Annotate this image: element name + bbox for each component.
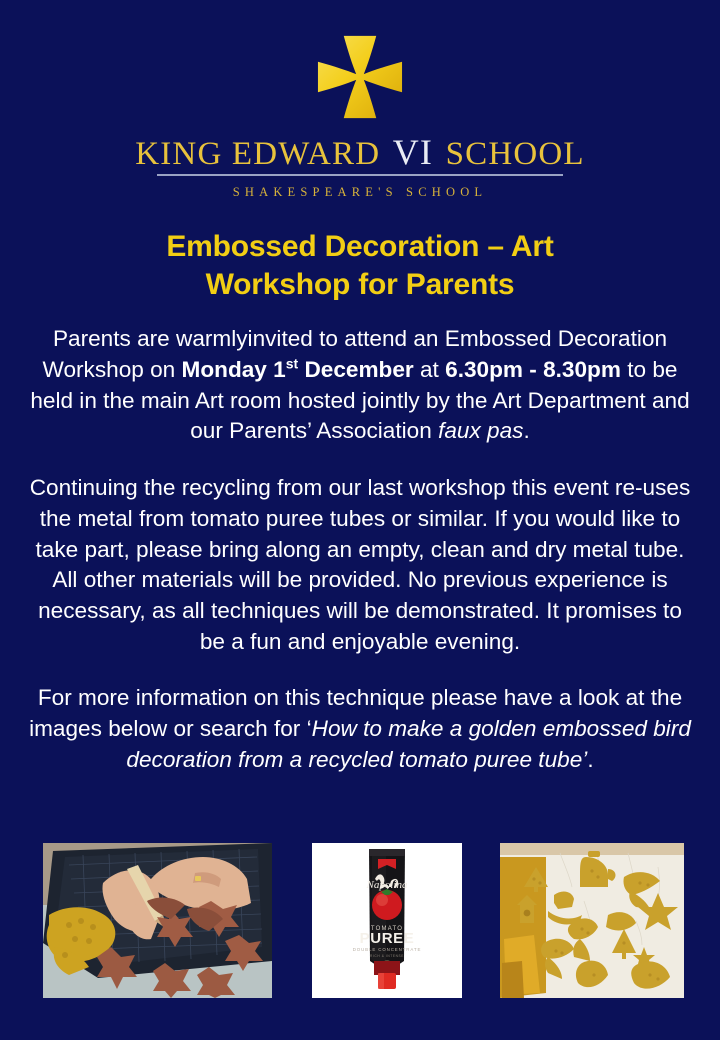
page-title-line-2: Workshop for Parents bbox=[80, 266, 640, 304]
photo-hands-embossing-metal bbox=[43, 843, 272, 998]
photo-tomato-puree-tube-graphic: Napolina TOMATO PUREE DOUBLE CONCENTRATE… bbox=[312, 843, 462, 998]
photo-tomato-puree-tube: Napolina TOMATO PUREE DOUBLE CONCENTRATE… bbox=[312, 843, 462, 998]
page-title-line-1: Embossed Decoration – Art bbox=[80, 228, 640, 266]
p1-italic-association-name: faux pas bbox=[438, 418, 523, 443]
photo-gold-embossed-decorations bbox=[500, 843, 684, 998]
school-name-numeral: VI bbox=[390, 132, 436, 172]
image-strip: Napolina TOMATO PUREE DOUBLE CONCENTRATE… bbox=[0, 843, 720, 998]
paragraph-recycling-info: Continuing the recycling from our last w… bbox=[28, 473, 692, 657]
svg-text:RICH & INTENSE: RICH & INTENSE bbox=[370, 954, 404, 958]
paragraph-event-details: Parents are warmlyinvited to attend an E… bbox=[28, 324, 692, 447]
p1-bold-date-month: December bbox=[298, 357, 414, 382]
school-name: KING EDWARD VI SCHOOL bbox=[0, 134, 720, 171]
paragraph-more-information: For more information on this technique p… bbox=[28, 683, 692, 775]
logo-divider-rule bbox=[157, 174, 563, 176]
svg-text:PUREE: PUREE bbox=[360, 930, 415, 947]
p3-segment-2: . bbox=[587, 747, 593, 772]
school-tagline: SHAKESPEARE'S SCHOOL bbox=[0, 185, 720, 200]
p1-date-ordinal-suffix: st bbox=[286, 355, 298, 371]
page-title: Embossed Decoration – Art Workshop for P… bbox=[80, 228, 640, 304]
body-copy: Parents are warmlyinvited to attend an E… bbox=[28, 324, 692, 775]
photo-gold-embossed-decorations-graphic bbox=[500, 843, 684, 998]
photo-hands-embossing-metal-graphic bbox=[43, 843, 272, 998]
school-logo-block: KING EDWARD VI SCHOOL SHAKESPEARE'S SCHO… bbox=[0, 0, 720, 200]
p1-segment-4: . bbox=[523, 418, 529, 443]
p1-bold-date-day: Monday 1 bbox=[182, 357, 286, 382]
maltese-cross-icon bbox=[312, 34, 408, 120]
school-name-part2: SCHOOL bbox=[446, 136, 585, 172]
svg-text:DOUBLE CONCENTRATE: DOUBLE CONCENTRATE bbox=[353, 947, 422, 952]
p1-bold-time-range: 6.30pm - 8.30pm bbox=[445, 357, 621, 382]
school-name-part1: KING EDWARD bbox=[135, 136, 380, 172]
p1-segment-2: at bbox=[414, 357, 445, 382]
